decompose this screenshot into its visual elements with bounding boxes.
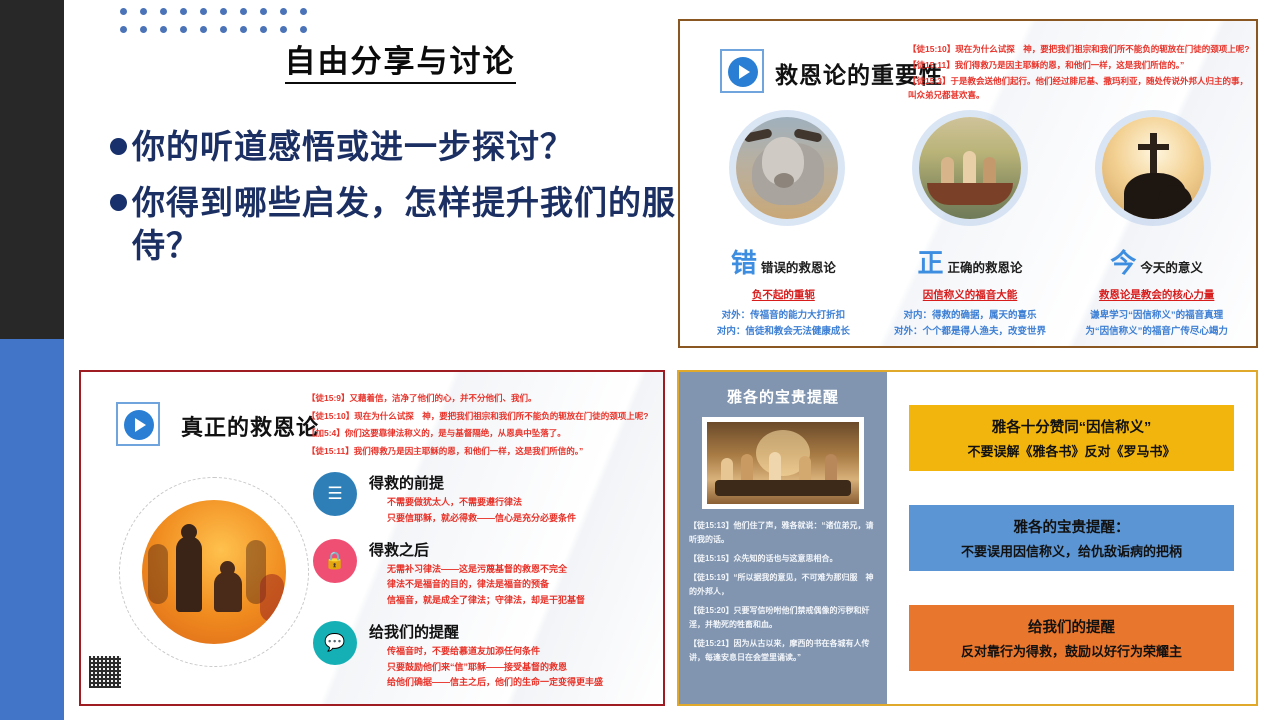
column-highlight: 负不起的重轭 — [690, 287, 877, 302]
dot-decoration — [120, 8, 307, 33]
callout-box-reminder: 雅各的宝贵提醒： 不要误用因信称义，给仇敌诟病的把柄 — [909, 505, 1234, 571]
item-line: 给他们确据——信主之后，他们的生命一定变得更丰盛 — [387, 675, 653, 691]
item-line: 无需补习律法——这是污蔑基督的救恩不完全 — [387, 562, 653, 578]
callout-box-application: 给我们的提醒 反对靠行为得救，鼓励以好行为荣耀主 — [909, 605, 1234, 671]
verse-line: 【徒15:15】众先知的话也与这意思相合。 — [689, 552, 877, 566]
callout-line-2: 不要误解《雅各书》反对《罗马书》 — [917, 441, 1226, 460]
column-glyph: 正 — [917, 248, 943, 278]
play-icon — [720, 49, 764, 93]
column-highlight: 因信称义的福音大能 — [877, 287, 1064, 302]
column-detail-line: 对外：传福音的能力大打折扣 — [690, 308, 877, 324]
callout-line-1: 给我们的提醒 — [917, 616, 1226, 637]
list-item: 💬 给我们的提醒 传福音时，不要给慕道友加添任何条件 只要鼓励他们来“信”耶稣—… — [313, 621, 653, 691]
panel-heading: 真正的救恩论 — [181, 410, 319, 442]
verse-line: 【徒15:11】我们得救乃是因主耶稣的恩，和他们一样，这是我们所信的。” — [307, 445, 655, 459]
dot-row — [120, 26, 307, 33]
column-subtitle: 错误的救恩论 — [761, 261, 836, 275]
verse-block: 【徒15:9】又藉着信，洁净了他们的心，并不分他们、我们。 【徒15:10】现在… — [307, 392, 655, 462]
verse-line: 【徒15:10】现在为什么试探 神，要把我们祖宗和我们所不能负的轭放在门徒的颈项… — [908, 43, 1252, 56]
bullet-item: 你得到哪些启发，怎样提升我们的服侍？ — [110, 181, 680, 268]
verse-line: 【加5:4】你们这要靠律法称义的，是与基督隔绝，从恩典中坠落了。 — [307, 427, 655, 441]
column-glyph-wrapper: 正正确的救恩论 — [877, 243, 1064, 280]
dot-row — [120, 8, 307, 15]
dot — [160, 26, 167, 33]
item-line: 传福音时，不要给慕道友加添任何条件 — [387, 644, 653, 660]
dot — [180, 8, 187, 15]
item-title: 得救之后 — [369, 539, 653, 560]
summary-column-today: 今今天的意义 救恩论是教会的核心力量 谦卑学习“因信称义”的福音真理 为“因信称… — [1063, 243, 1250, 340]
dot — [160, 8, 167, 15]
item-line: 只要信耶稣，就必得救——信心是充分必要条件 — [387, 511, 653, 527]
chat-icon: 💬 — [313, 621, 357, 665]
three-column-summary: 错错误的救恩论 负不起的重轭 对外：传福音的能力大打折扣 对内：信徒和教会无法健… — [690, 243, 1250, 340]
callout-line-2: 反对靠行为得救，鼓励以好行为荣耀主 — [917, 641, 1226, 660]
slide-title-text: 自由分享与讨论 — [285, 44, 516, 84]
item-lines: 无需补习律法——这是污蔑基督的救恩不完全 律法不是福音的目的，律法是福音的预备 … — [369, 562, 653, 609]
panel-background: 救恩论的重要性 【徒15:10】现在为什么试探 神，要把我们祖宗和我们所不能负的… — [680, 21, 1256, 346]
column-glyph: 错 — [731, 248, 757, 278]
left-blue-strip — [0, 339, 64, 720]
list-item: 🔒 得救之后 无需补习律法——这是污蔑基督的救恩不完全 律法不是福音的目的，律法… — [313, 539, 653, 609]
qr-code — [89, 656, 121, 688]
item-line: 信福音，就是成全了律法；守律法，却是干犯基督 — [387, 593, 653, 609]
last-supper-painting — [702, 417, 864, 509]
column-glyph-wrapper: 错错误的救恩论 — [690, 243, 877, 280]
verse-line: 【徒15:9】又藉着信，洁净了他们的心，并不分他们、我们。 — [307, 392, 655, 406]
dot — [120, 8, 127, 15]
column-title: 雅各的宝贵提醒 — [689, 386, 877, 407]
dot — [140, 26, 147, 33]
bullet-item: 你的听道感悟或进一步探讨？ — [110, 125, 680, 169]
column-detail-line: 对外：个个都是得人渔夫，改变世界 — [877, 324, 1064, 340]
item-lines: 不需要做犹太人，不需要遵行律法 只要信耶稣，就必得救——信心是充分必要条件 — [369, 495, 653, 527]
column-detail: 谦卑学习“因信称义”的福音真理 为“因信称义”的福音广传尽心竭力 — [1063, 308, 1250, 340]
verse-line: 【徒15:11】我们得救乃是因主耶稣的恩，和他们一样，这是我们所信的。” — [908, 59, 1252, 72]
dot — [260, 26, 267, 33]
jesus-healing-illustration — [142, 500, 286, 644]
bullet-list: 你的听道感悟或进一步探讨？ 你得到哪些启发，怎样提升我们的服侍？ — [110, 125, 680, 280]
list-item: ☰ 得救的前提 不需要做犹太人，不需要遵行律法 只要信耶稣，就必得救——信心是充… — [313, 472, 653, 527]
item-lines: 传福音时，不要给慕道友加添任何条件 只要鼓励他们来“信”耶稣——接受基督的救恩 … — [369, 644, 653, 691]
dot — [180, 26, 187, 33]
column-detail: 对外：传福音的能力大打折扣 对内：信徒和教会无法健康成长 — [690, 308, 877, 340]
dot — [300, 26, 307, 33]
verse-line: 【徒15:19】“所以据我的意见，不可难为那归服 神的外邦人， — [689, 571, 877, 599]
bullet-marker-icon — [110, 194, 127, 211]
panel-background: 真正的救恩论 【徒15:9】又藉着信，洁净了他们的心，并不分他们、我们。 【徒1… — [81, 372, 663, 704]
item-title: 得救的前提 — [369, 472, 653, 493]
item-line: 律法不是福音的目的，律法是福音的预备 — [387, 577, 653, 593]
panel-true-salvation: 真正的救恩论 【徒15:9】又藉着信，洁净了他们的心，并不分他们、我们。 【徒1… — [79, 370, 665, 706]
verse-line: 【徒15:21】因为从古以来，摩西的书在各城有人传讲，每逢安息日在会堂里诵读。” — [689, 637, 877, 665]
dot — [240, 26, 247, 33]
play-icon — [116, 402, 160, 446]
panel-james-reminder: 雅各的宝贵提醒 【徒15:13】他们住了声，雅各就说：“诸位弟兄，请听我的话。 … — [677, 370, 1258, 706]
column-detail: 对内：得救的确据，属天的喜乐 对外：个个都是得人渔夫，改变世界 — [877, 308, 1064, 340]
callout-box-agreement: 雅各十分赞同“因信称义” 不要误解《雅各书》反对《罗马书》 — [909, 405, 1234, 471]
salvation-point-list: ☰ 得救的前提 不需要做犹太人，不需要遵行律法 只要信耶稣，就必得救——信心是充… — [313, 472, 653, 703]
item-line: 不需要做犹太人，不需要遵行律法 — [387, 495, 653, 511]
panel-background: 雅各的宝贵提醒 【徒15:13】他们住了声，雅各就说：“诸位弟兄，请听我的话。 … — [679, 372, 1256, 704]
summary-column-wrong: 错错误的救恩论 负不起的重轭 对外：传福音的能力大打折扣 对内：信徒和教会无法健… — [690, 243, 877, 340]
verse-block: 【徒15:13】他们住了声，雅各就说：“诸位弟兄，请听我的话。 【徒15:15】… — [689, 519, 877, 665]
dot — [140, 8, 147, 15]
column-highlight: 救恩论是教会的核心力量 — [1063, 287, 1250, 302]
ox-photo — [736, 117, 838, 219]
bullet-text: 你得到哪些启发，怎样提升我们的服侍？ — [132, 181, 680, 268]
callout-line-1: 雅各十分赞同“因信称义” — [917, 416, 1226, 437]
left-dark-strip — [0, 0, 64, 339]
verse-line: 【徒15:20】只要写信吩咐他们禁戒偶像的污秽和奸淫，并勒死的牲畜和血。 — [689, 604, 877, 632]
bullet-text: 你的听道感悟或进一步探讨？ — [132, 125, 680, 169]
james-verse-column: 雅各的宝贵提醒 【徒15:13】他们住了声，雅各就说：“诸位弟兄，请听我的话。 … — [679, 372, 887, 704]
fishermen-boat-painting — [919, 117, 1021, 219]
column-subtitle: 正确的救恩论 — [948, 261, 1023, 275]
column-glyph-wrapper: 今今天的意义 — [1063, 243, 1250, 280]
presentation-slide: 自由分享与讨论 你的听道感悟或进一步探讨？ 你得到哪些启发，怎样提升我们的服侍？… — [0, 0, 1280, 720]
dot — [280, 8, 287, 15]
circle-image-row — [696, 117, 1244, 235]
dot — [200, 8, 207, 15]
column-subtitle: 今天的意义 — [1140, 261, 1203, 275]
dot — [220, 26, 227, 33]
dot — [240, 8, 247, 15]
dashed-ring-decoration — [119, 477, 309, 667]
summary-column-right: 正正确的救恩论 因信称义的福音大能 对内：得救的确据，属天的喜乐 对外：个个都是… — [877, 243, 1064, 340]
lock-icon: 🔒 — [313, 539, 357, 583]
verse-line: 【徒15:13】他们住了声，雅各就说：“诸位弟兄，请听我的话。 — [689, 519, 877, 547]
slide-title: 自由分享与讨论 — [120, 36, 680, 81]
dot — [260, 8, 267, 15]
column-glyph: 今 — [1110, 248, 1136, 278]
dot — [300, 8, 307, 15]
dot — [200, 26, 207, 33]
column-detail-line: 对内：信徒和教会无法健康成长 — [690, 324, 877, 340]
dot — [120, 26, 127, 33]
dot — [280, 26, 287, 33]
column-detail-line: 谦卑学习“因信称义”的福音真理 — [1063, 308, 1250, 324]
column-detail-line: 对内：得救的确据，属天的喜乐 — [877, 308, 1064, 324]
verse-line: 【徒15:10】现在为什么试探 神，要把我们祖宗和我们所不能负的轭放在门徒的颈项… — [307, 410, 655, 424]
panel-salvation-importance: 救恩论的重要性 【徒15:10】现在为什么试探 神，要把我们祖宗和我们所不能负的… — [678, 19, 1258, 348]
item-line: 只要鼓励他们来“信”耶稣——接受基督的救恩 — [387, 660, 653, 676]
dot — [220, 8, 227, 15]
cross-silhouette-photo — [1102, 117, 1204, 219]
verse-block: 【徒15:10】现在为什么试探 神，要把我们祖宗和我们所不能负的轭放在门徒的颈项… — [908, 43, 1252, 105]
bullet-marker-icon — [110, 138, 127, 155]
callout-line-1: 雅各的宝贵提醒： — [917, 516, 1226, 537]
item-title: 给我们的提醒 — [369, 621, 653, 642]
column-detail-line: 为“因信称义”的福音广传尽心竭力 — [1063, 324, 1250, 340]
layers-icon: ☰ — [313, 472, 357, 516]
james-callout-column: 雅各十分赞同“因信称义” 不要误解《雅各书》反对《罗马书》 雅各的宝贵提醒： 不… — [887, 372, 1256, 704]
callout-line-2: 不要误用因信称义，给仇敌诟病的把柄 — [917, 541, 1226, 560]
verse-line: 【徒15:3】于是教会送他们起行。他们经过腓尼基、撒玛利亚，随处传说外邦人归主的… — [908, 75, 1252, 101]
